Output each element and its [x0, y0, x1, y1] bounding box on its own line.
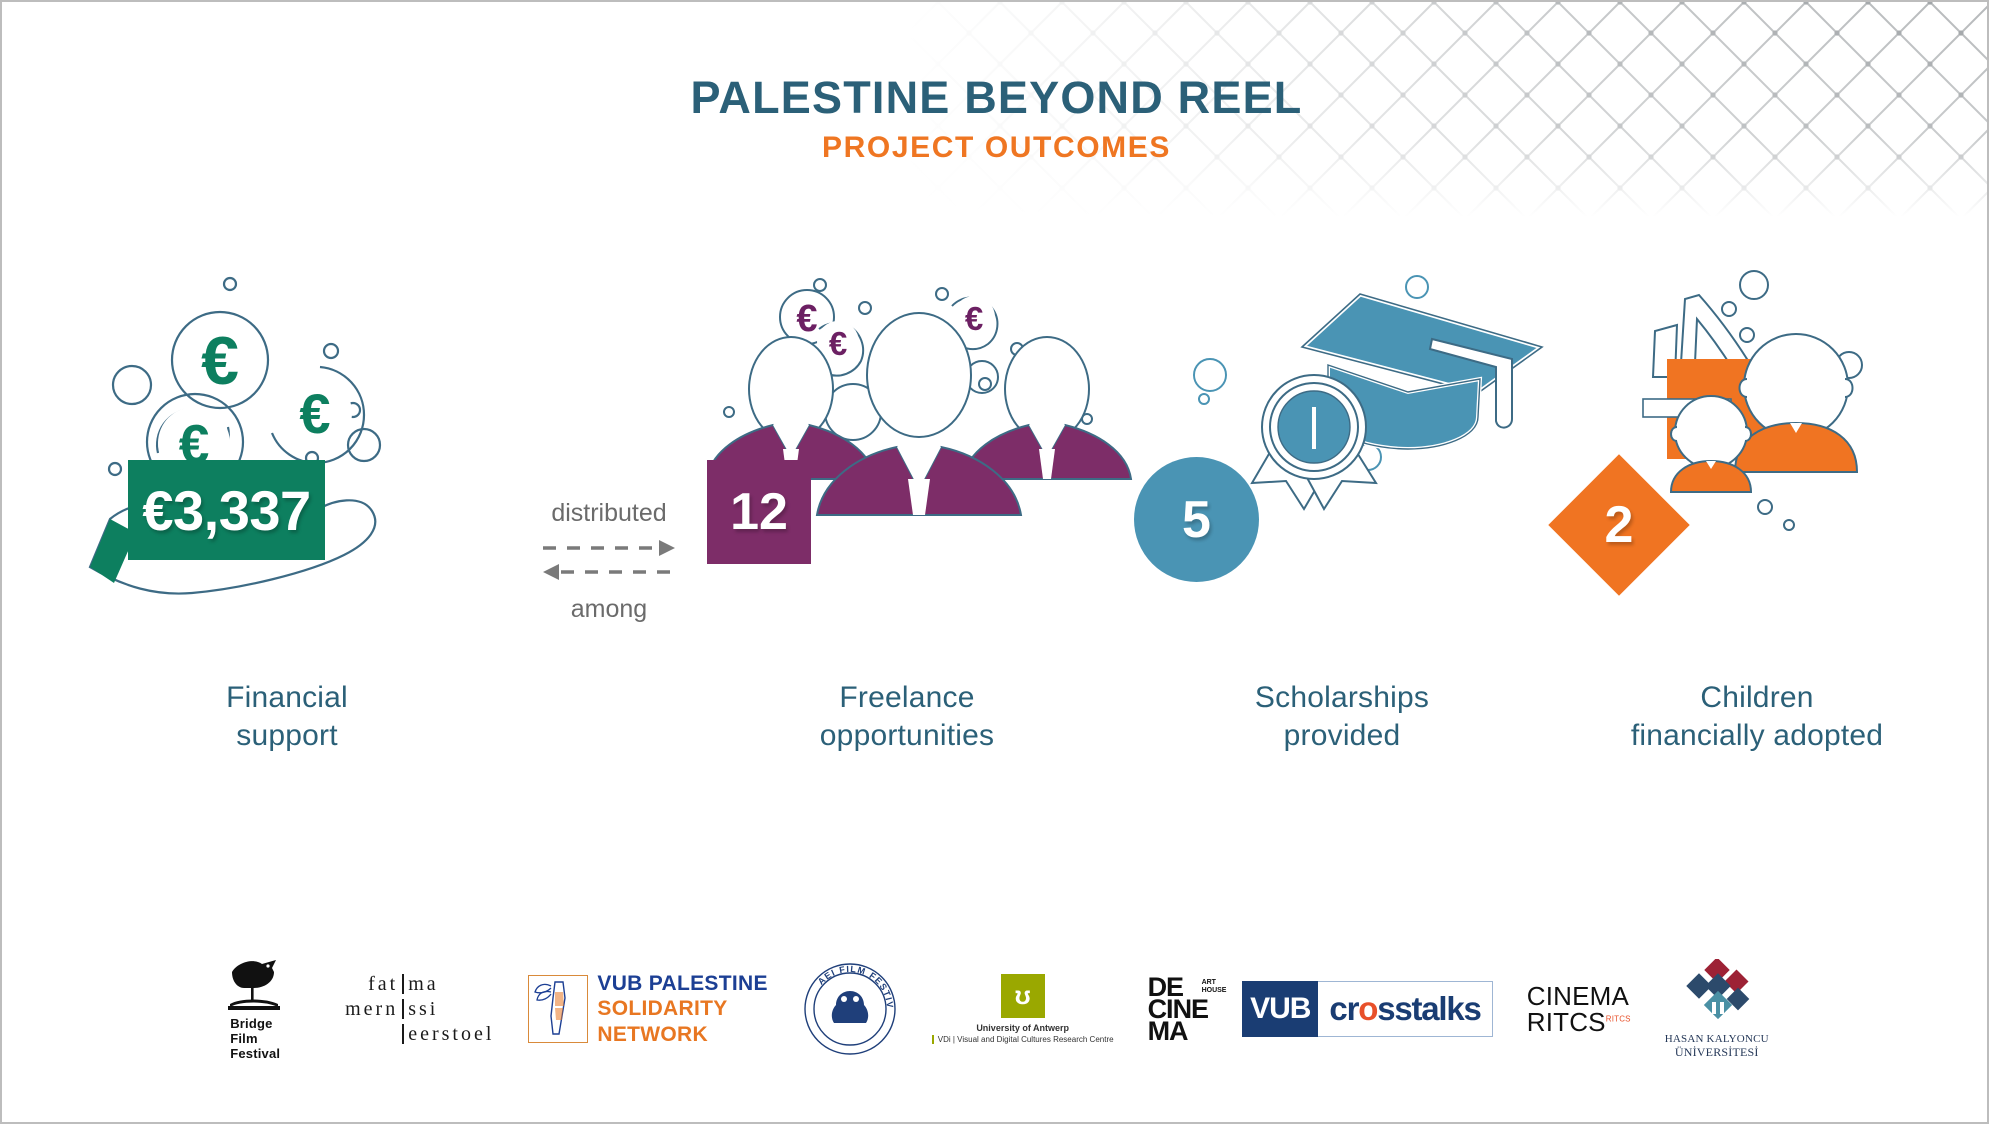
- logo-line-2: Film: [230, 1032, 280, 1047]
- logo-crosstalks-word: crosstalks: [1318, 981, 1492, 1037]
- logo-de-cinema: DE CINE MA ART HOUSE: [1148, 949, 1209, 1069]
- logo-fm-part1: fat: [320, 974, 398, 994]
- connector-distributed-among: distributed among: [514, 499, 704, 629]
- svg-text:€: €: [796, 298, 817, 340]
- logo-bridge-film-festival-text: Bridge Film Festival: [230, 1017, 280, 1062]
- logo-fm-divider: [402, 1024, 404, 1044]
- logo-vpsn-line1: VUB PALESTINE: [597, 971, 767, 997]
- logo-ritcs-line2-text: RITCS: [1527, 1007, 1606, 1037]
- logo-fm-part5: eerstoel: [408, 1024, 494, 1044]
- svg-text:€: €: [965, 300, 983, 337]
- bird-on-perch-icon: [224, 956, 286, 1014]
- logo-university-of-antwerp: ʊ University of Antwerp VDi | Visual and…: [932, 949, 1114, 1069]
- crosstalks-part-o: o: [1358, 990, 1377, 1028]
- aei-seal-icon: AEI FILM FESTIVAL: [802, 961, 898, 1057]
- vpsn-inner: VUB PALESTINE SOLIDARITY NETWORK: [528, 971, 767, 1048]
- logo-line-1: Bridge: [230, 1017, 280, 1032]
- svg-text:€: €: [299, 382, 330, 445]
- logo-bridge-film-festival: Bridge Film Festival: [224, 949, 286, 1069]
- page-title: PALESTINE BEYOND REEL: [2, 74, 1989, 121]
- stat-value-freelance-opportunities: 12: [707, 460, 811, 564]
- stat-label-line2: financially adopted: [1427, 717, 1989, 755]
- logo-cinema-ritcs: CINEMA RITCSRITCS: [1527, 949, 1631, 1069]
- logo-hasan-kalyoncu-universitesi: HASAN KALYONCU ÜNİVERSİTESİ: [1665, 949, 1769, 1069]
- stat-badge-children-financially-adopted: 2: [1551, 457, 1687, 593]
- logo-line-3: Festival: [230, 1047, 280, 1062]
- connector-top-label: distributed: [514, 499, 704, 528]
- header: PALESTINE BEYOND REEL PROJECT OUTCOMES: [2, 74, 1989, 165]
- page-subtitle: PROJECT OUTCOMES: [2, 131, 1989, 165]
- logo-vpsn-line3: NETWORK: [597, 1022, 767, 1048]
- logo-ritcs-line1: CINEMA: [1527, 983, 1631, 1009]
- hand-with-euro-coins-icon: € € €: [72, 267, 502, 617]
- stat-financial-support: € € € €3,337 Financial support: [72, 267, 502, 767]
- stat-value-financial-support: €3,337: [128, 460, 325, 560]
- logo-vub-mark: VUB: [1242, 981, 1318, 1037]
- logo-fatima-mernissi-leerstoel: fat ma mern ssi eerstoel: [320, 949, 494, 1069]
- svg-text:€: €: [829, 325, 847, 362]
- stats-row: € € € €3,337 Financial support: [2, 267, 1989, 767]
- connector-bottom-label: among: [514, 595, 704, 624]
- logo-fatima-mernissi-text: fat ma mern ssi eerstoel: [320, 974, 494, 1044]
- logo-cinema-ritcs-text: CINEMA RITCSRITCS: [1527, 983, 1631, 1035]
- arrow-pair-icon: [539, 537, 679, 583]
- crosstalks-inner: VUB crosstalks: [1242, 981, 1493, 1037]
- logo-ua-line2: VDi | Visual and Digital Cultures Resear…: [932, 1035, 1114, 1045]
- crosstalks-part-a: cr: [1329, 990, 1358, 1028]
- logo-hku-line1: HASAN KALYONCU: [1665, 1033, 1769, 1045]
- stat-label-financial-support: Financial support: [42, 679, 532, 756]
- vpsn-text: VUB PALESTINE SOLIDARITY NETWORK: [597, 971, 767, 1048]
- logo-vub-crosstalks: VUB crosstalks: [1242, 949, 1493, 1069]
- logo-de-cinema-text: DE CINE MA ART HOUSE: [1148, 976, 1209, 1042]
- partner-logos-row: Bridge Film Festival fat ma mern ssi: [2, 944, 1989, 1074]
- infographic-slide: PALESTINE BEYOND REEL PROJECT OUTCOMES: [0, 0, 1989, 1124]
- logo-vub-palestine-solidarity-network: VUB PALESTINE SOLIDARITY NETWORK: [528, 949, 767, 1069]
- logo-aei-film-festival: AEI FILM FESTIVAL: [802, 949, 898, 1069]
- crosstalks-part-b: sstalks: [1377, 990, 1481, 1028]
- connector-arrows: [514, 537, 704, 588]
- palestine-map-olive-branch-icon: [528, 975, 588, 1043]
- stat-value-scholarships-provided: 5: [1134, 457, 1259, 582]
- logo-fm-part4: ssi: [408, 999, 438, 1019]
- logo-fm-divider: [402, 999, 404, 1019]
- logo-vpsn-line2: SOLIDARITY: [597, 996, 767, 1022]
- stat-label-line1: Children: [1427, 679, 1989, 717]
- antwerp-mark-icon: ʊ: [1001, 974, 1045, 1018]
- logo-ritcs-line2: RITCSRITCS: [1527, 1009, 1631, 1035]
- logo-ritcs-sup: RITCS: [1606, 1014, 1631, 1023]
- stat-label-children-financially-adopted: Children financially adopted: [1427, 679, 1989, 756]
- stat-label-line2: support: [42, 717, 532, 755]
- logo-hku-line2: ÜNİVERSİTESİ: [1675, 1045, 1759, 1060]
- stat-children-financially-adopted: 2 Children financially adopted: [1557, 267, 1987, 767]
- stat-value-children-financially-adopted: 2: [1551, 457, 1687, 593]
- stat-label-line1: Financial: [42, 679, 532, 717]
- svg-text:€: €: [201, 323, 239, 399]
- logo-ua-line1: University of Antwerp: [976, 1023, 1069, 1033]
- three-people-with-euro-coins-icon: € € €: [707, 267, 1137, 617]
- diamond-cluster-icon: [1680, 959, 1754, 1029]
- logo-fm-part3: mern: [320, 999, 398, 1019]
- logo-decinema-sup: ART HOUSE: [1202, 979, 1227, 994]
- logo-fm-part2: ma: [408, 974, 438, 994]
- logo-fm-divider: [402, 974, 404, 994]
